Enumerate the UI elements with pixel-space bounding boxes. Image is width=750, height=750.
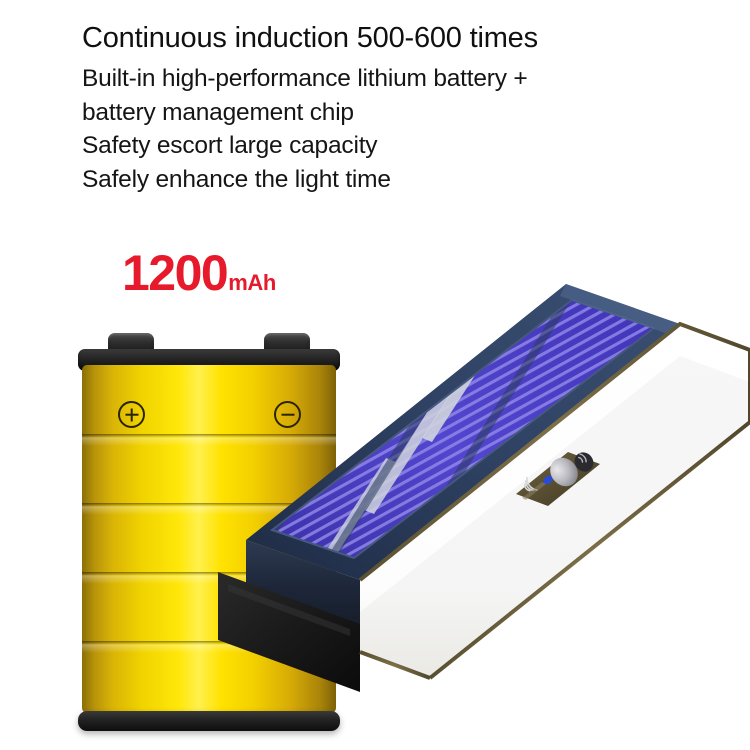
copy-line-2: battery management chip (82, 96, 682, 130)
copy-block: Continuous induction 500-600 times Built… (82, 22, 682, 196)
copy-line-3: Safety escort large capacity (82, 129, 682, 163)
copy-line-1: Built-in high-performance lithium batter… (82, 62, 682, 96)
plus-icon (118, 401, 145, 428)
battery-base (78, 711, 340, 731)
sensor-control-panel[interactable] (512, 438, 604, 520)
copy-line-4: Safely enhance the light time (82, 163, 682, 197)
product-marketing-image: Continuous induction 500-600 times Built… (0, 0, 750, 750)
headline: Continuous induction 500-600 times (82, 22, 682, 55)
solar-lamp-illustration (168, 272, 750, 692)
